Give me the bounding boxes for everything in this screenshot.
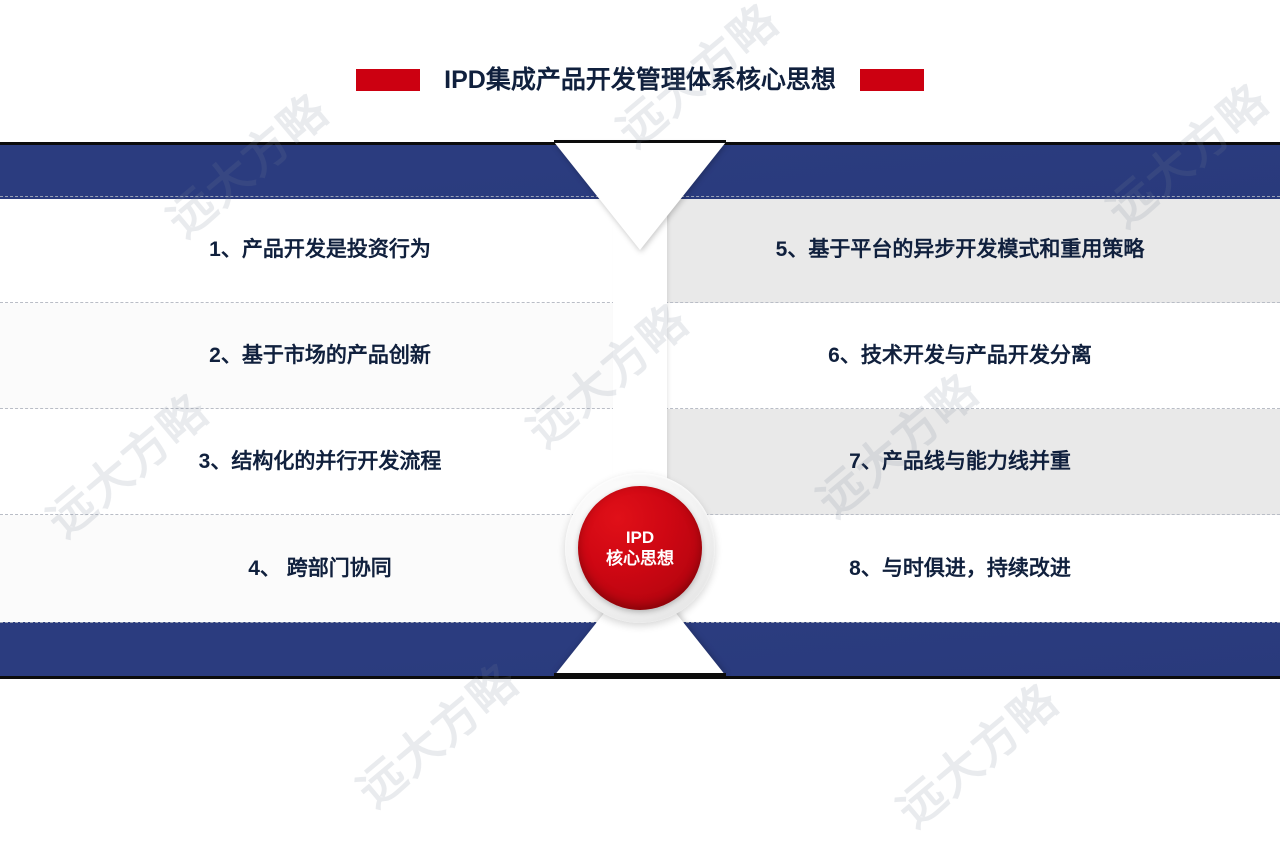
list-item-label: 6、技术开发与产品开发分离 xyxy=(828,345,1092,366)
list-item-label: 2、基于市场的产品创新 xyxy=(209,345,431,366)
list-item[interactable]: 5、基于平台的异步开发模式和重用策略 xyxy=(640,197,1280,303)
page-title-block: IPD集成产品开发管理体系核心思想 xyxy=(0,58,1280,102)
bottom-triangle-cap xyxy=(554,673,726,676)
list-item-label: 8、与时俱进，持续改进 xyxy=(849,558,1071,579)
center-hub-line1: IPD xyxy=(626,527,654,548)
diagram-stage: 1、产品开发是投资行为 2、基于市场的产品创新 3、结构化的并行开发流程 4、 … xyxy=(0,140,1280,676)
list-item[interactable]: 6、技术开发与产品开发分离 xyxy=(640,303,1280,409)
list-item-label: 5、基于平台的异步开发模式和重用策略 xyxy=(776,239,1145,260)
title-left-accent-bar xyxy=(356,69,420,91)
list-item-label: 4、 跨部门协同 xyxy=(248,558,392,579)
top-triangle-cap xyxy=(554,140,726,143)
list-item[interactable]: 7、产品线与能力线并重 xyxy=(640,409,1280,515)
center-hub-line2: 核心思想 xyxy=(606,548,674,569)
top-triangle-notch-icon xyxy=(554,142,726,250)
watermark-text: 远大方略 xyxy=(881,666,1071,840)
list-item-label: 1、产品开发是投资行为 xyxy=(209,239,431,260)
center-hub[interactable]: IPD 核心思想 xyxy=(565,473,715,623)
list-item[interactable]: 3、结构化的并行开发流程 xyxy=(0,409,640,515)
list-item-label: 7、产品线与能力线并重 xyxy=(849,451,1071,472)
list-item[interactable]: 1、产品开发是投资行为 xyxy=(0,197,640,303)
title-right-accent-bar xyxy=(860,69,924,91)
page-title: IPD集成产品开发管理体系核心思想 xyxy=(444,68,836,93)
list-item[interactable]: 8、与时俱进，持续改进 xyxy=(640,515,1280,621)
list-item[interactable]: 2、基于市场的产品创新 xyxy=(0,303,640,409)
list-item[interactable]: 4、 跨部门协同 xyxy=(0,515,640,621)
list-item-label: 3、结构化的并行开发流程 xyxy=(199,451,442,472)
left-column: 1、产品开发是投资行为 2、基于市场的产品创新 3、结构化的并行开发流程 4、 … xyxy=(0,197,640,622)
center-hub-core: IPD 核心思想 xyxy=(578,486,702,610)
right-column: 5、基于平台的异步开发模式和重用策略 6、技术开发与产品开发分离 7、产品线与能… xyxy=(640,197,1280,622)
